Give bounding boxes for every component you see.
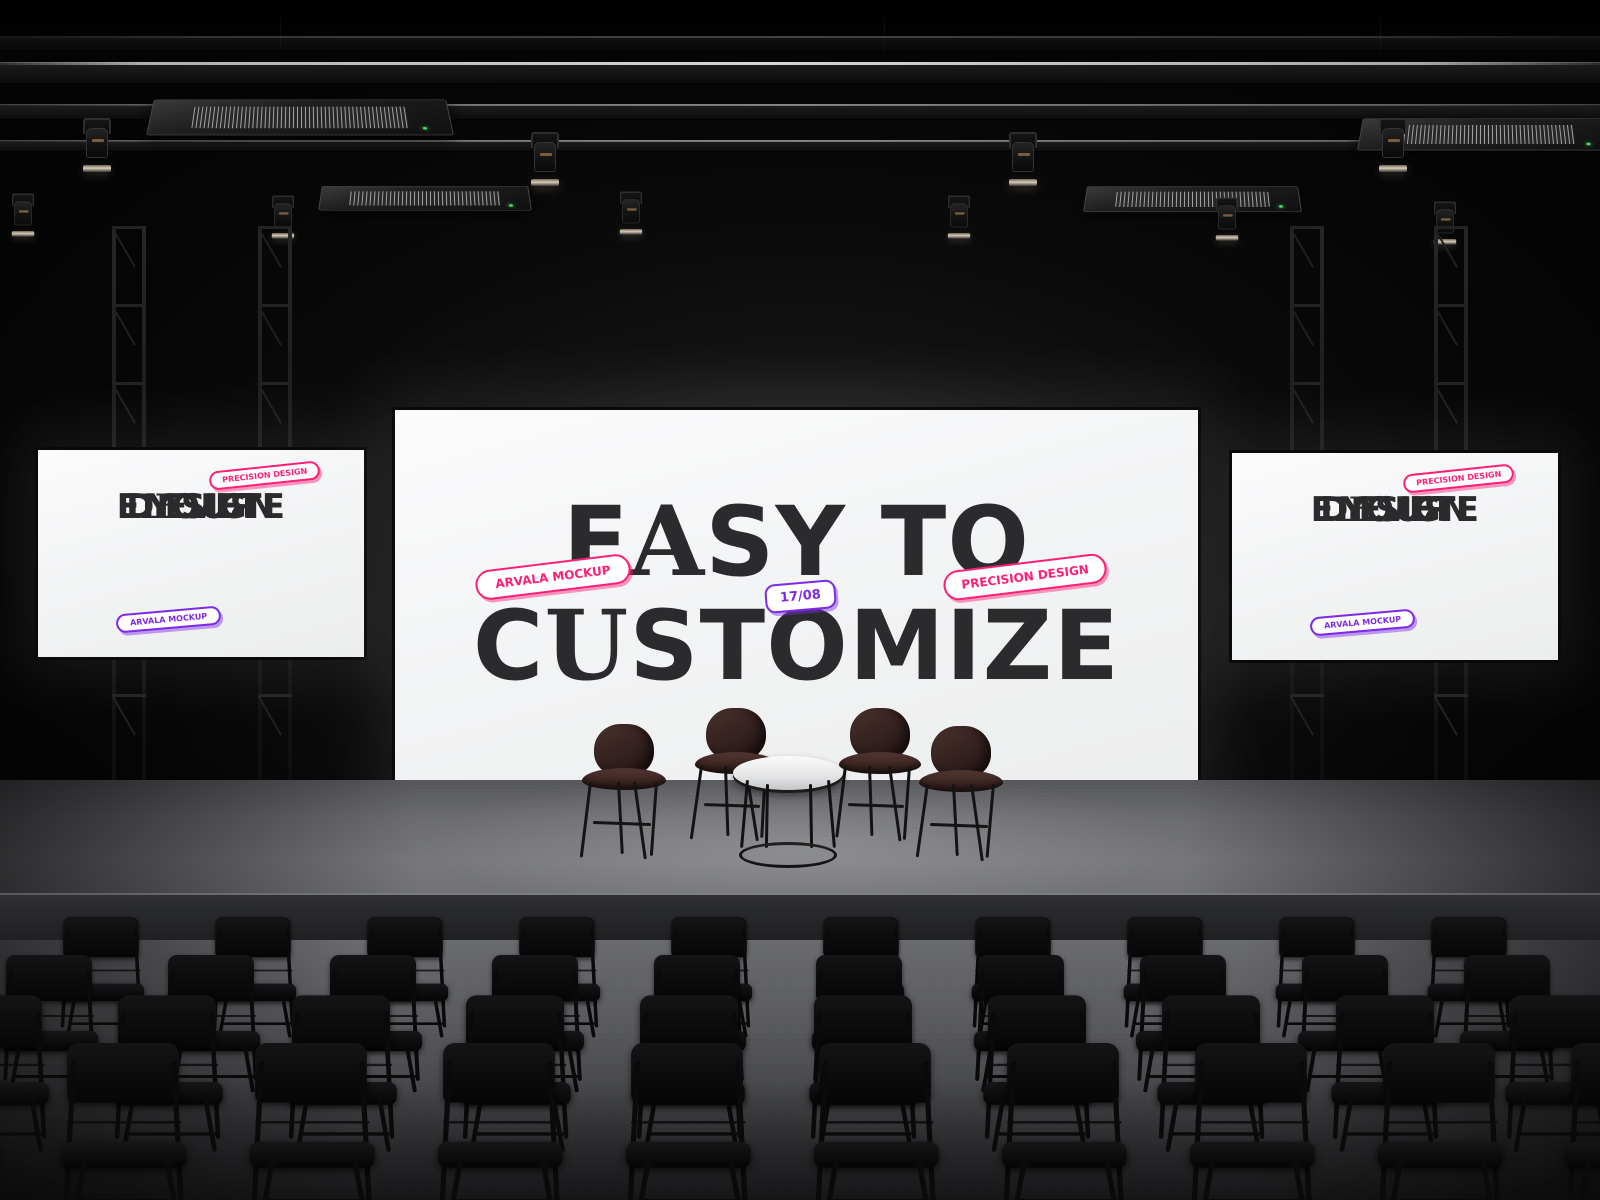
chair-crossbar	[631, 1121, 745, 1124]
chair-leg	[1003, 1061, 1016, 1200]
chair-backrest	[255, 1043, 367, 1103]
chair-leg	[1159, 1011, 1170, 1139]
chair-leg	[815, 1061, 828, 1200]
chair-backrest	[1431, 917, 1507, 957]
badge-date[interactable]: 17/08	[764, 579, 837, 614]
hvac-diffuser	[146, 100, 454, 136]
chair-leg	[1277, 929, 1286, 1028]
chair-leg	[63, 1061, 76, 1200]
chair-backrest	[819, 1043, 931, 1103]
chair-backrest	[1162, 995, 1260, 1047]
chair-backrest	[443, 1043, 555, 1103]
main-led-wall[interactable]: EASY TO CUSTOMIZE ARVALA MOCKUP 17/08 PR…	[395, 410, 1198, 800]
stage-light	[947, 195, 971, 238]
audience-chair[interactable]	[1558, 1043, 1600, 1200]
hvac-diffuser	[318, 186, 532, 211]
chair-backrest	[1464, 955, 1550, 1001]
chair-seat	[0, 1082, 49, 1105]
chair-backrest	[519, 917, 595, 957]
chair-crossbar	[255, 1121, 369, 1124]
chair-backrest	[631, 1043, 743, 1103]
audience-chair[interactable]	[994, 1043, 1132, 1200]
audience-chair[interactable]	[1182, 1043, 1320, 1200]
chair-crossbar	[1007, 1121, 1121, 1124]
chair-crossbar	[1571, 1121, 1600, 1124]
chair-leg	[1379, 1061, 1392, 1200]
chair-crossbar	[0, 1064, 44, 1066]
chair-crossbar	[819, 1121, 933, 1124]
chair-leg	[1137, 969, 1147, 1081]
chair-backrest	[1127, 917, 1203, 957]
side-screen-left[interactable]: ELEVETE YOUR DESIGN PRECISION DESIGN ARV…	[38, 450, 364, 657]
audience-chair[interactable]	[618, 1043, 756, 1200]
side-headline-line3: DESIGN	[38, 488, 364, 527]
audience-chair[interactable]	[806, 1043, 944, 1200]
chair-crossbar	[443, 1121, 557, 1124]
main-headline-line2: CUSTOMIZE	[395, 602, 1198, 690]
chair-backrest	[118, 995, 216, 1047]
chair-backrest	[1007, 1043, 1119, 1103]
round-coffee-table[interactable]	[733, 756, 843, 868]
chair-leg	[439, 1061, 452, 1200]
stage-light	[530, 132, 560, 186]
chair-backrest	[1336, 995, 1434, 1047]
chair-backrest	[330, 955, 416, 1001]
stage-light	[11, 193, 35, 236]
chair-backrest	[292, 995, 390, 1047]
chair-leg	[1333, 1011, 1344, 1139]
chair-backrest	[1279, 917, 1355, 957]
chair-backrest	[640, 995, 738, 1047]
chair-backrest	[1195, 1043, 1307, 1103]
chair-backrest	[466, 995, 564, 1047]
chair-leg	[1567, 1061, 1580, 1200]
side-headline-line3: DESIGN	[1232, 491, 1558, 530]
chair-seat	[1566, 1142, 1600, 1168]
stage-light	[82, 118, 112, 172]
chair-backrest	[654, 955, 740, 1001]
stage-shadow-right	[1180, 780, 1600, 910]
chair-crossbar	[67, 1121, 181, 1124]
audience-chair[interactable]	[242, 1043, 380, 1200]
stage-shadow-left	[0, 780, 420, 910]
stage-light	[619, 191, 643, 234]
stage-light	[1008, 132, 1038, 186]
chair-backrest	[168, 955, 254, 1001]
chair-backrest	[1510, 995, 1600, 1047]
stage-light	[1215, 197, 1239, 240]
chair-backrest	[978, 955, 1064, 1001]
chair-leg	[1191, 1061, 1204, 1200]
chair-backrest	[816, 955, 902, 1001]
chair-backrest	[1302, 955, 1388, 1001]
side-screen-right[interactable]: ELEVETE YOUR DESIGN PRECISION DESIGN ARV…	[1232, 453, 1558, 660]
chair-backrest	[6, 955, 92, 1001]
chair-backrest	[975, 917, 1051, 957]
panel-chair[interactable]	[912, 726, 1010, 846]
audience-chair[interactable]	[0, 995, 53, 1155]
hvac-diffuser	[1083, 186, 1302, 212]
panel-chair[interactable]	[575, 724, 673, 844]
chair-crossbar	[0, 1132, 42, 1135]
chair-backrest	[988, 995, 1086, 1047]
audience-chair[interactable]	[1370, 1043, 1508, 1200]
chair-backrest	[823, 917, 899, 957]
chair-backrest	[67, 1043, 179, 1103]
audience-chair[interactable]	[430, 1043, 568, 1200]
top-darkening	[0, 0, 1600, 60]
chair-backrest	[492, 955, 578, 1001]
chair-backrest	[367, 917, 443, 957]
chair-backrest	[671, 917, 747, 957]
audience-chair[interactable]	[0, 1043, 4, 1200]
chair-leg	[1507, 1011, 1518, 1139]
chair-backrest	[1383, 1043, 1495, 1103]
chair-backrest	[1140, 955, 1226, 1001]
stage-light	[1378, 118, 1408, 172]
chair-crossbar	[1195, 1121, 1309, 1124]
chair-leg	[251, 1061, 264, 1200]
audience-chair[interactable]	[54, 1043, 192, 1200]
chair-backrest	[814, 995, 912, 1047]
chair-backrest	[63, 917, 139, 957]
ceiling-truss-upper	[0, 62, 1600, 84]
chair-backrest	[215, 917, 291, 957]
chair-leg	[627, 1061, 640, 1200]
stage-scene: ELEVETE YOUR DESIGN PRECISION DESIGN ARV…	[0, 0, 1600, 1200]
chair-crossbar	[1383, 1121, 1497, 1124]
